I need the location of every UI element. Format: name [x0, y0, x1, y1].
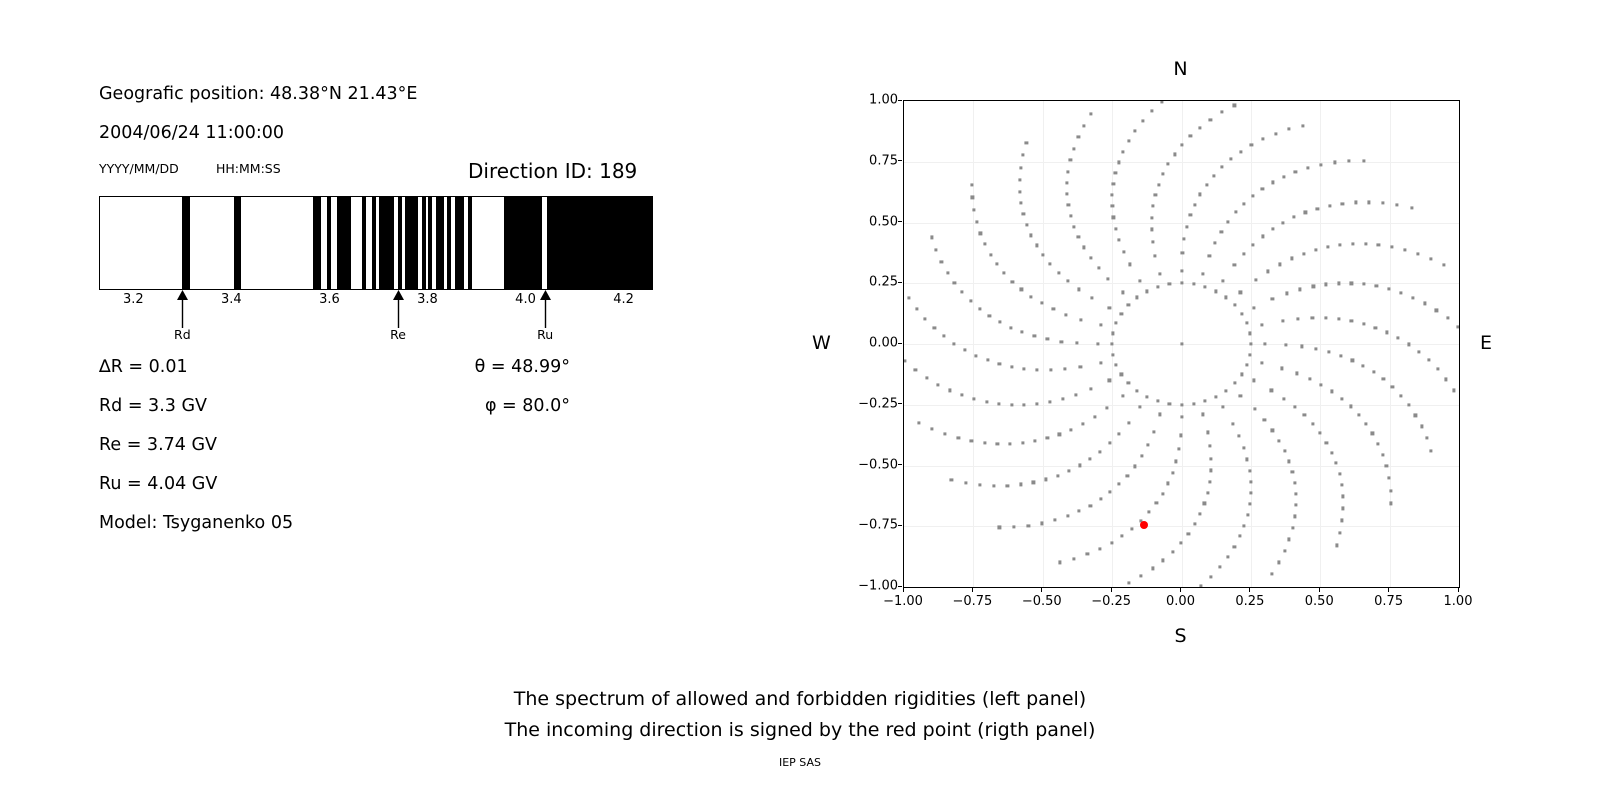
direction-point: [1133, 465, 1136, 468]
scatter-y-tick-label: 1.00: [869, 93, 898, 108]
direction-point: [1118, 238, 1121, 241]
direction-point: [1351, 359, 1354, 362]
direction-point: [1128, 263, 1131, 266]
direction-point: [971, 196, 974, 199]
compass-south-label: S: [1174, 625, 1186, 647]
direction-point: [1396, 336, 1399, 339]
direction-point: [1010, 403, 1013, 406]
rigidity-marker-label: Rd: [162, 329, 202, 342]
direction-point: [1285, 292, 1288, 295]
direction-point: [1089, 504, 1092, 507]
direction-point: [1294, 492, 1297, 495]
direction-point-ring: [1135, 389, 1138, 392]
direction-point: [1034, 439, 1037, 442]
direction-point: [1118, 483, 1121, 486]
direction-point-ring: [1145, 395, 1148, 398]
forbidden-band: [379, 197, 393, 289]
direction-point: [1185, 225, 1188, 228]
direction-point: [973, 397, 976, 400]
direction-point: [1261, 187, 1264, 190]
direction-point: [1278, 263, 1281, 266]
direction-point: [1242, 202, 1245, 205]
direction-point: [1385, 331, 1388, 334]
direction-point: [930, 236, 933, 239]
direction-point: [1218, 566, 1221, 569]
direction-point: [1199, 193, 1202, 196]
direction-point: [1040, 522, 1043, 525]
direction-point: [1090, 296, 1093, 299]
direction-point: [1290, 257, 1293, 260]
scatter-y-tickmark: [898, 403, 902, 404]
forbidden-band: [398, 197, 402, 289]
direction-point: [1020, 288, 1023, 291]
direction-point: [1390, 245, 1393, 248]
direction-point: [1293, 405, 1296, 408]
direction-point: [1282, 221, 1285, 224]
direction-point: [1249, 491, 1252, 494]
direction-point: [1342, 507, 1345, 510]
direction-point: [1283, 397, 1286, 400]
scatter-x-tickmark: [1388, 588, 1389, 592]
direction-point: [1350, 320, 1353, 323]
direction-point: [1066, 515, 1069, 518]
direction-point: [940, 260, 943, 263]
direction-point: [1180, 541, 1183, 544]
direction-point: [1114, 172, 1117, 175]
scatter-y-tickmark: [898, 525, 902, 526]
direction-point-ring: [1145, 290, 1148, 293]
direction-point: [1238, 535, 1241, 538]
direction-point: [1381, 202, 1384, 205]
compass-north-label: N: [1173, 58, 1187, 80]
rigidity-tick-label: 3.4: [221, 292, 242, 307]
forbidden-band: [547, 197, 651, 289]
forbidden-band: [372, 197, 377, 289]
direction-point: [1314, 248, 1317, 251]
direction-point: [1079, 318, 1082, 321]
direction-point: [1021, 441, 1024, 444]
direction-point: [946, 271, 949, 274]
direction-point: [1299, 288, 1302, 291]
direction-point: [1325, 283, 1328, 286]
direction-point: [1140, 455, 1143, 458]
direction-point: [1070, 428, 1073, 431]
direction-point: [1425, 437, 1428, 440]
direction-point: [1297, 317, 1300, 320]
direction-point: [1146, 443, 1149, 446]
direction-point: [1302, 252, 1305, 255]
direction-point: [1396, 204, 1399, 207]
direction-point: [1150, 216, 1153, 219]
direction-point: [1189, 135, 1192, 138]
datetime-label: 2004/06/24 11:00:00: [99, 123, 284, 143]
scatter-y-tick-label: −0.25: [858, 396, 898, 411]
forbidden-band: [405, 197, 418, 289]
direction-point: [1429, 257, 1432, 260]
direction-point: [1362, 364, 1365, 367]
direction-point-ring: [1224, 389, 1227, 392]
direction-point: [1193, 203, 1196, 206]
forbidden-band: [327, 197, 331, 289]
direction-point: [1035, 244, 1038, 247]
direction-point: [1212, 174, 1215, 177]
direction-point-center: [1180, 342, 1183, 345]
direction-point: [1118, 432, 1121, 435]
direction-point: [1134, 129, 1137, 132]
scatter-x-tickmark: [1319, 588, 1320, 592]
direction-point: [978, 307, 981, 310]
direction-point: [1249, 480, 1252, 483]
direction-point: [1075, 393, 1078, 396]
direction-point: [1067, 280, 1070, 283]
direction-point: [1081, 422, 1084, 425]
direction-point: [1127, 140, 1130, 143]
direction-point-ring: [1192, 283, 1195, 286]
direction-point: [1203, 502, 1206, 505]
direction-point: [1206, 431, 1209, 434]
rigidity-marker-re: Re: [378, 290, 418, 342]
direction-point: [1387, 476, 1390, 479]
direction-point-ring: [1249, 342, 1252, 345]
scatter-y-tickmark: [898, 586, 902, 587]
direction-point: [1098, 547, 1101, 550]
direction-scatter-plot: [903, 100, 1460, 588]
direction-point: [1057, 271, 1060, 274]
direction-point: [1354, 201, 1357, 204]
direction-point: [1077, 235, 1080, 238]
direction-point-ring: [1127, 381, 1130, 384]
direction-point: [1161, 100, 1164, 103]
direction-point: [1364, 422, 1367, 425]
direction-point: [1069, 159, 1072, 162]
direction-point: [1013, 525, 1016, 528]
direction-point: [1201, 413, 1204, 416]
direction-point: [1025, 141, 1028, 144]
direction-point: [1066, 181, 1069, 184]
incoming-direction-marker: [1140, 521, 1148, 529]
direction-point: [1407, 343, 1410, 346]
direction-point: [1446, 317, 1449, 320]
direction-point: [1019, 166, 1022, 169]
direction-point: [1078, 464, 1081, 467]
direction-point: [1340, 397, 1343, 400]
direction-point: [1040, 302, 1043, 305]
direction-point: [1311, 317, 1314, 320]
direction-point: [1099, 450, 1102, 453]
direction-point: [1189, 214, 1192, 217]
direction-point: [1066, 192, 1069, 195]
direction-point-ring: [1192, 402, 1195, 405]
direction-point: [1214, 241, 1217, 244]
scatter-x-tickmark: [1041, 588, 1042, 592]
direction-point: [1067, 469, 1070, 472]
direction-point: [1385, 464, 1388, 467]
direction-point: [1330, 451, 1333, 454]
direction-point: [1252, 306, 1255, 309]
direction-point: [1018, 178, 1021, 181]
rigidity-tick-label: 3.8: [417, 292, 438, 307]
direction-point: [1349, 405, 1352, 408]
direction-point: [1281, 367, 1284, 370]
direction-point: [978, 483, 981, 486]
direction-point: [1032, 481, 1035, 484]
direction-point: [1152, 431, 1155, 434]
scatter-y-tick-label: 0.75: [869, 153, 898, 168]
direction-point: [1351, 242, 1354, 245]
direction-point: [953, 281, 956, 284]
direction-point: [1262, 138, 1265, 141]
forbidden-band: [337, 197, 351, 289]
direction-point: [1148, 511, 1151, 514]
direction-point: [1072, 557, 1075, 560]
footer-attribution: IEP SAS: [0, 756, 1600, 769]
scatter-x-tick-label: 1.00: [1444, 594, 1473, 609]
scatter-x-tickmark: [1111, 588, 1112, 592]
direction-point: [988, 314, 991, 317]
direction-point: [1056, 474, 1059, 477]
direction-point: [1036, 368, 1039, 371]
direction-point: [1162, 559, 1165, 562]
direction-point: [1374, 326, 1377, 329]
direction-point: [1341, 519, 1344, 522]
direction-point: [961, 291, 964, 294]
direction-point: [1229, 158, 1232, 161]
direction-point: [1442, 263, 1445, 266]
scatter-x-tick-label: 0.25: [1235, 594, 1264, 609]
direction-point: [1208, 445, 1211, 448]
direction-point: [1089, 256, 1092, 259]
direction-point: [1368, 201, 1371, 204]
direction-point: [1209, 575, 1212, 578]
direction-point: [1271, 297, 1274, 300]
scatter-x-tickmark: [1249, 588, 1250, 592]
direction-point: [1046, 338, 1049, 341]
direction-point: [1362, 283, 1365, 286]
scatter-x-tickmark: [972, 588, 973, 592]
scatter-y-tick-label: −0.75: [858, 518, 898, 533]
direction-point: [1151, 567, 1154, 570]
direction-point: [935, 248, 938, 251]
direction-point: [975, 220, 978, 223]
direction-point: [1180, 270, 1183, 273]
scatter-y-tick-label: 0.00: [869, 336, 898, 351]
rigidity-marker-label: Ru: [525, 329, 565, 342]
direction-point: [1270, 389, 1273, 392]
scatter-y-tick-label: −1.00: [858, 579, 898, 594]
scatter-x-tickmark: [1180, 588, 1181, 592]
direction-point-ring: [1180, 403, 1183, 406]
direction-point: [1320, 383, 1323, 386]
forbidden-band: [447, 197, 451, 289]
direction-point: [1003, 272, 1006, 275]
direction-point: [1248, 469, 1251, 472]
direction-point: [1357, 413, 1360, 416]
direction-point: [1107, 277, 1110, 280]
direction-point: [1246, 458, 1249, 461]
direction-point: [1023, 367, 1026, 370]
direction-point-ring: [1168, 283, 1171, 286]
direction-point: [1399, 291, 1402, 294]
forbidden-band: [468, 197, 472, 289]
direction-point: [1410, 207, 1413, 210]
direction-point: [1233, 545, 1236, 548]
direction-point: [1150, 109, 1153, 112]
direction-point: [1077, 288, 1080, 291]
direction-point: [1271, 429, 1274, 432]
direction-point: [960, 394, 963, 397]
direction-point: [1287, 128, 1290, 131]
direction-point: [1242, 446, 1245, 449]
direction-point: [1267, 270, 1270, 273]
scatter-y-tick-label: 0.50: [869, 214, 898, 229]
gridline-horizontal: [904, 223, 1459, 224]
direction-point: [1364, 242, 1367, 245]
direction-point: [1362, 322, 1365, 325]
parameter-item: ∆R = 0.01: [99, 357, 188, 377]
direction-point: [1161, 492, 1164, 495]
direction-point: [986, 359, 989, 362]
direction-point: [1293, 481, 1296, 484]
direction-point-ring: [1204, 285, 1207, 288]
direction-point: [1121, 150, 1124, 153]
direction-point: [1339, 243, 1342, 246]
rigidity-spectrum-panel: Geografic position: 48.38°N 21.43°E 2004…: [0, 0, 720, 680]
direction-point: [1067, 170, 1070, 173]
direction-point: [1311, 422, 1314, 425]
forbidden-band: [362, 197, 366, 289]
scatter-x-tick-label: −1.00: [883, 594, 923, 609]
angle-parameter-item: θ = 48.99°: [475, 357, 570, 377]
direction-point: [1105, 407, 1108, 410]
direction-point: [1407, 404, 1410, 407]
direction-point: [1278, 439, 1281, 442]
direction-point: [1067, 203, 1070, 206]
direction-point: [970, 183, 973, 186]
direction-point: [983, 243, 986, 246]
direction-point: [1445, 378, 1448, 381]
direction-point: [1314, 347, 1317, 350]
direction-point: [1131, 527, 1134, 530]
direction-point: [1457, 325, 1460, 328]
direction-point: [1121, 534, 1124, 537]
direction-point: [1282, 175, 1285, 178]
direction-point: [924, 317, 927, 320]
scatter-y-tick-label: −0.50: [858, 457, 898, 472]
direction-point: [1151, 240, 1154, 243]
direction-point: [1108, 379, 1111, 382]
direction-point: [1154, 194, 1157, 197]
forbidden-band: [436, 197, 444, 289]
direction-point: [1054, 519, 1057, 522]
direction-point-ring: [1240, 312, 1243, 315]
direction-point: [1177, 448, 1180, 451]
date-format-hint: YYYY/MM/DD: [99, 161, 179, 176]
direction-point: [1206, 491, 1209, 494]
scatter-x-tick-label: −0.75: [952, 594, 992, 609]
scatter-x-tick-label: 0.00: [1166, 594, 1195, 609]
direction-point: [1318, 431, 1321, 434]
direction-point: [1086, 553, 1089, 556]
direction-point: [1220, 230, 1223, 233]
direction-point: [931, 428, 934, 431]
direction-point: [1261, 235, 1264, 238]
direction-point: [1376, 442, 1379, 445]
direction-point: [1141, 119, 1144, 122]
direction-point: [1288, 538, 1291, 541]
direction-id-label: Direction ID: 189: [468, 159, 637, 183]
direction-point: [1018, 190, 1021, 193]
rigidity-marker-label: Re: [378, 329, 418, 342]
direction-point: [1181, 251, 1184, 254]
direction-point: [1089, 387, 1092, 390]
direction-point: [1061, 397, 1064, 400]
direction-point: [1339, 354, 1342, 357]
direction-point-ring: [1112, 332, 1115, 335]
direction-point: [1021, 154, 1024, 157]
direction-point: [1041, 253, 1044, 256]
forbidden-band: [428, 197, 432, 289]
direction-point: [944, 433, 947, 436]
direction-point-ring: [1135, 296, 1138, 299]
direction-point: [983, 442, 986, 445]
direction-point: [1341, 202, 1344, 205]
direction-point: [1201, 272, 1204, 275]
geographic-position-label: Geografic position: 48.38°N 21.43°E: [99, 84, 417, 104]
forbidden-band: [313, 197, 320, 289]
direction-point: [948, 389, 951, 392]
direction-point: [1222, 406, 1225, 409]
direction-point: [1179, 434, 1182, 437]
direction-point: [1283, 449, 1286, 452]
direction-point: [1350, 282, 1353, 285]
direction-point: [1117, 161, 1120, 164]
direction-point: [957, 437, 960, 440]
direction-point: [998, 320, 1001, 323]
scatter-x-tick-label: 0.75: [1374, 594, 1403, 609]
direction-point: [1303, 414, 1306, 417]
direction-point: [1048, 400, 1051, 403]
direction-point: [1082, 246, 1085, 249]
direction-point: [997, 402, 1000, 405]
direction-point: [1316, 207, 1319, 210]
direction-point: [985, 400, 988, 403]
forbidden-band: [422, 197, 426, 289]
direction-point: [1154, 254, 1157, 257]
direction-point-ring: [1127, 303, 1130, 306]
direction-point: [1412, 296, 1415, 299]
direction-point-ring: [1233, 381, 1236, 384]
direction-map-panel: N S E W −1.00−0.75−0.50−0.250.000.250.50…: [790, 0, 1600, 680]
direction-point: [1250, 144, 1253, 147]
direction-point: [1337, 282, 1340, 285]
direction-point: [1121, 394, 1124, 397]
scatter-x-tickmark: [903, 588, 904, 592]
direction-point-ring: [1245, 322, 1248, 325]
direction-point: [1335, 461, 1338, 464]
direction-point: [1077, 135, 1080, 138]
direction-point: [1253, 408, 1256, 411]
direction-point: [1340, 483, 1343, 486]
direction-point: [1274, 132, 1277, 135]
direction-point: [1327, 350, 1330, 353]
direction-point: [1019, 483, 1022, 486]
direction-point-ring: [1156, 399, 1159, 402]
direction-point: [1263, 342, 1266, 345]
direction-point: [936, 383, 939, 386]
arrow-up-icon: [539, 290, 552, 328]
direction-point: [1254, 278, 1257, 281]
direction-point: [1399, 394, 1402, 397]
